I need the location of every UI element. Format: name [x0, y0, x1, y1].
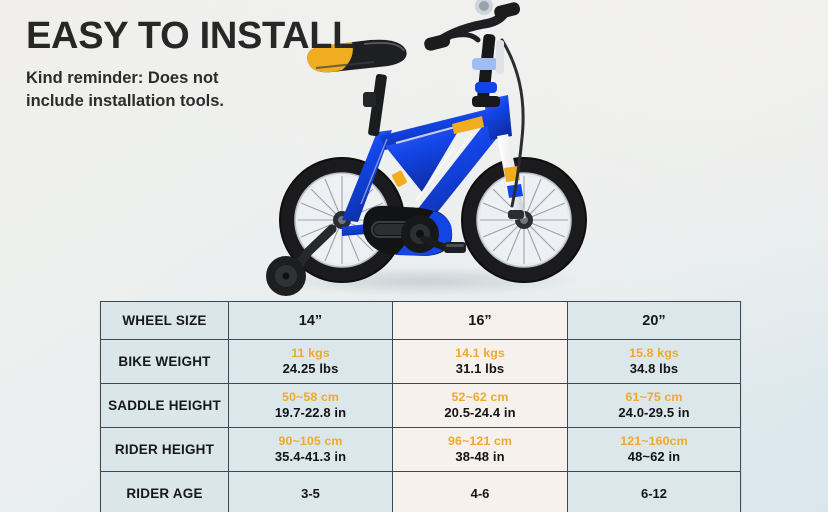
page-subtitle: Kind reminder: Does not include installa… — [26, 67, 256, 112]
imperial-value: 35.4-41.3 in — [229, 449, 392, 465]
column-header-16: 16” — [393, 302, 568, 340]
column-header-14: 14” — [229, 302, 393, 340]
imperial-value: 31.1 lbs — [393, 361, 567, 377]
column-header-wheel-size: WHEEL SIZE — [101, 302, 229, 340]
metric-value: 11 kgs — [229, 347, 392, 361]
cell-rider-age-16: 4-6 — [393, 472, 568, 512]
cell-saddle-height-20: 61~75 cm 24.0-29.5 in — [568, 384, 741, 428]
bike-size-spec-table: WHEEL SIZE 14” 16” 20” BIKE WEIGHT 11 kg… — [100, 301, 741, 512]
metric-value: 52~62 cm — [393, 391, 567, 405]
cell-rider-height-20: 121~160cm 48~62 in — [568, 428, 741, 472]
row-label-rider-height: RIDER HEIGHT — [101, 428, 229, 472]
cell-bike-weight-20: 15.8 kgs 34.8 lbs — [568, 340, 741, 384]
row-label-bike-weight: BIKE WEIGHT — [101, 340, 229, 384]
metric-value: 90~105 cm — [229, 435, 392, 449]
table-row: BIKE WEIGHT 11 kgs 24.25 lbs 14.1 kgs 31… — [101, 340, 741, 384]
imperial-value: 24.25 lbs — [229, 361, 392, 377]
cell-rider-age-14: 3-5 — [229, 472, 393, 512]
cell-bike-weight-16: 14.1 kgs 31.1 lbs — [393, 340, 568, 384]
imperial-value: 34.8 lbs — [568, 361, 740, 377]
cell-rider-height-16: 96~121 cm 38-48 in — [393, 428, 568, 472]
table-row: RIDER AGE 3-5 4-6 6-12 — [101, 472, 741, 512]
imperial-value: 20.5-24.4 in — [393, 405, 567, 421]
imperial-value: 24.0-29.5 in — [568, 405, 740, 421]
page-title: EASY TO INSTALL — [26, 16, 446, 56]
metric-value: 14.1 kgs — [393, 347, 567, 361]
single-value: 4-6 — [393, 486, 567, 502]
table-row: SADDLE HEIGHT 50~58 cm 19.7-22.8 in 52~6… — [101, 384, 741, 428]
imperial-value: 38-48 in — [393, 449, 567, 465]
cell-saddle-height-16: 52~62 cm 20.5-24.4 in — [393, 384, 568, 428]
table-row: RIDER HEIGHT 90~105 cm 35.4-41.3 in 96~1… — [101, 428, 741, 472]
metric-value: 50~58 cm — [229, 391, 392, 405]
cell-saddle-height-14: 50~58 cm 19.7-22.8 in — [229, 384, 393, 428]
heading-block: EASY TO INSTALL Kind reminder: Does not … — [26, 16, 446, 112]
imperial-value: 19.7-22.8 in — [229, 405, 392, 421]
cell-bike-weight-14: 11 kgs 24.25 lbs — [229, 340, 393, 384]
metric-value: 15.8 kgs — [568, 347, 740, 361]
spec-table-container: WHEEL SIZE 14” 16” 20” BIKE WEIGHT 11 kg… — [100, 301, 740, 512]
column-header-20: 20” — [568, 302, 741, 340]
imperial-value: 48~62 in — [568, 449, 740, 465]
front-wheel — [462, 158, 586, 282]
promo-banner: EASY TO INSTALL Kind reminder: Does not … — [0, 0, 828, 512]
single-value: 3-5 — [229, 486, 392, 502]
crank-and-pedal — [401, 215, 466, 253]
metric-value: 61~75 cm — [568, 391, 740, 405]
single-value: 6-12 — [568, 486, 740, 502]
metric-value: 96~121 cm — [393, 435, 567, 449]
row-label-rider-age: RIDER AGE — [101, 472, 229, 512]
row-label-saddle-height: SADDLE HEIGHT — [101, 384, 229, 428]
cell-rider-height-14: 90~105 cm 35.4-41.3 in — [229, 428, 393, 472]
cell-rider-age-20: 6-12 — [568, 472, 741, 512]
metric-value: 121~160cm — [568, 435, 740, 449]
table-header-row: WHEEL SIZE 14” 16” 20” — [101, 302, 741, 340]
